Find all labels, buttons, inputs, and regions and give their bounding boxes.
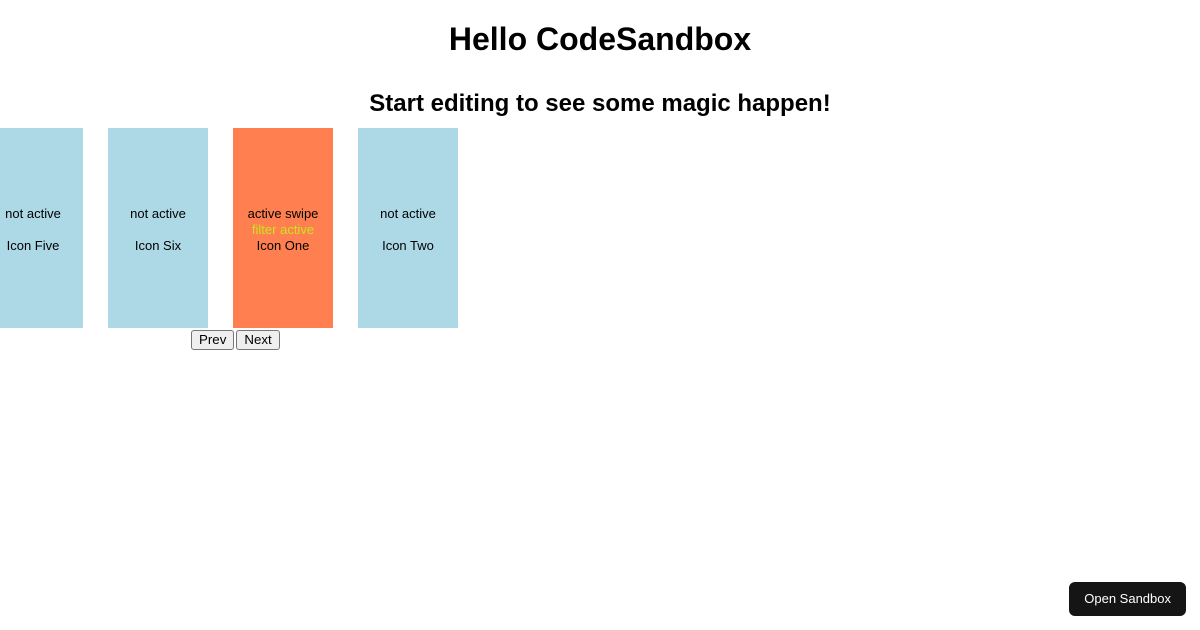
carousel-card[interactable]: not active filter active Icon Two: [358, 128, 458, 328]
next-button[interactable]: Next: [236, 330, 279, 350]
swipe-carousel[interactable]: not active filter active Icon Five not a…: [0, 128, 458, 328]
carousel-card[interactable]: not active filter active Icon Five: [0, 128, 83, 328]
card-state-label: not active: [0, 206, 83, 222]
card-name-label: Icon Five: [0, 238, 83, 254]
card-name-label: Icon One: [233, 238, 333, 254]
card-state-label: active swipe: [233, 206, 333, 222]
page-subtitle: Start editing to see some magic happen!: [0, 58, 1200, 118]
card-name-label: Icon Six: [108, 238, 208, 254]
page-title: Hello CodeSandbox: [0, 0, 1200, 58]
carousel-card-active[interactable]: active swipe filter active Icon One: [233, 128, 333, 328]
carousel-nav: Prev Next: [190, 330, 281, 350]
card-state-label: not active: [108, 206, 208, 222]
card-state-label: not active: [358, 206, 458, 222]
carousel-card[interactable]: not active filter active Icon Six: [108, 128, 208, 328]
carousel-track[interactable]: not active filter active Icon Five not a…: [0, 128, 458, 328]
prev-button[interactable]: Prev: [191, 330, 234, 350]
card-name-label: Icon Two: [358, 238, 458, 254]
card-filter-label: filter active: [233, 222, 333, 238]
open-sandbox-button[interactable]: Open Sandbox: [1069, 582, 1186, 616]
